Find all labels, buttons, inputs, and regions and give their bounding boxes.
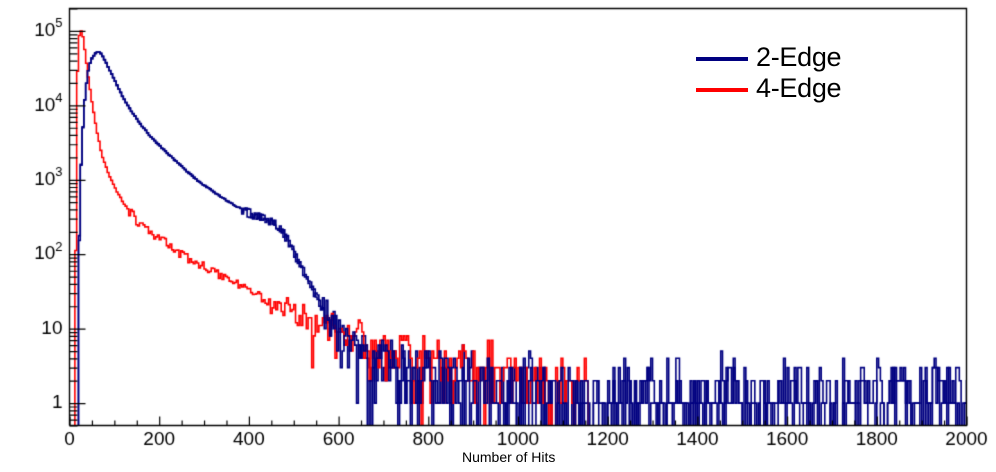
legend-label-2-edge: 2-Edge <box>756 42 841 73</box>
legend-label-4-edge: 4-Edge <box>756 73 841 104</box>
legend-line-4-edge <box>696 88 748 92</box>
x-axis-title: Number of Hits <box>462 449 555 465</box>
legend-entry-2-edge: 2-Edge <box>694 44 904 75</box>
chart-figure: 2-Edge 4-Edge Number of Hits <box>0 0 996 472</box>
chart-legend: 2-Edge 4-Edge <box>694 44 904 106</box>
legend-line-2-edge <box>696 57 748 61</box>
legend-entry-4-edge: 4-Edge <box>694 75 904 106</box>
